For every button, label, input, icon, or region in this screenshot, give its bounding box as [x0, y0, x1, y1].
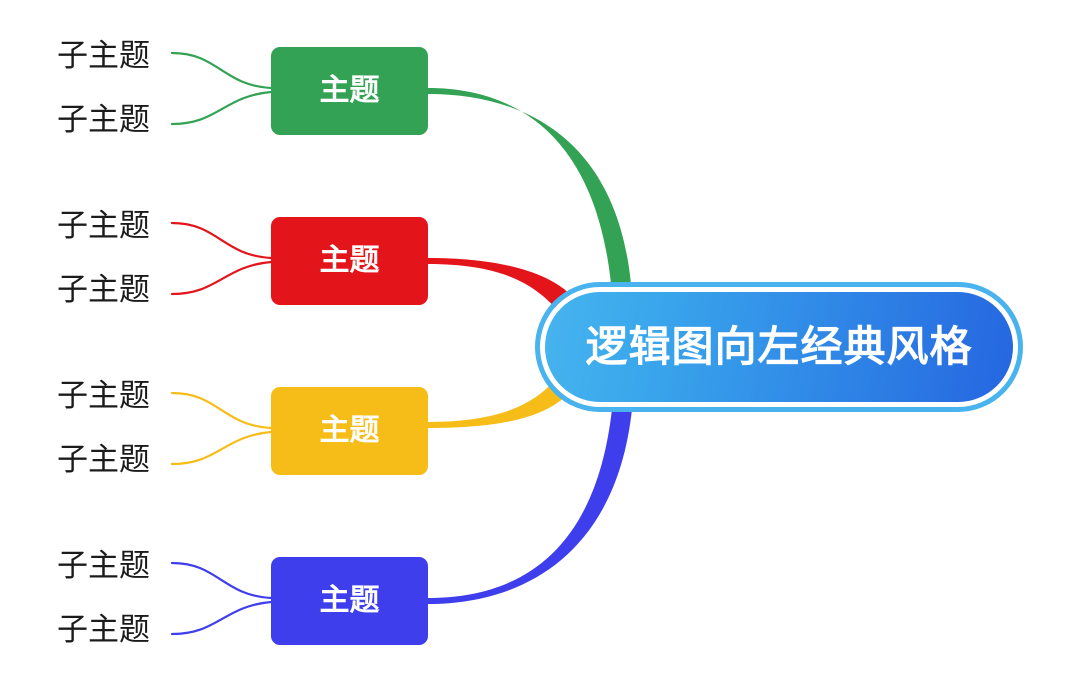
- mindmap-canvas: 主题 子主题 子主题 主题 子主题 子主题 主题 子主题 子主题 主题 子主题 …: [0, 0, 1075, 692]
- sub-connector-green-1: [172, 53, 271, 88]
- topic-label: 主题: [320, 586, 380, 616]
- topic-label: 主题: [320, 76, 380, 106]
- subtopic-yellow-1[interactable]: 子主题: [57, 380, 172, 411]
- sub-connector-blue-1: [172, 563, 271, 598]
- subtopic-green-2[interactable]: 子主题: [57, 104, 172, 135]
- main-connector-yellow: [428, 379, 570, 428]
- topic-label: 主题: [320, 416, 380, 446]
- topic-label: 主题: [320, 246, 380, 276]
- topic-box-blue[interactable]: 主题: [271, 557, 428, 645]
- topic-box-red[interactable]: 主题: [271, 217, 428, 305]
- topic-box-green[interactable]: 主题: [271, 47, 428, 135]
- subtopic-blue-2[interactable]: 子主题: [57, 614, 172, 645]
- sub-connector-yellow-1: [172, 393, 271, 428]
- main-connector-green: [428, 88, 631, 284]
- root-node[interactable]: 逻辑图向左经典风格: [540, 287, 1018, 407]
- sub-connector-yellow-2: [172, 432, 271, 464]
- sub-connector-red-1: [172, 223, 271, 258]
- subtopic-blue-1[interactable]: 子主题: [57, 550, 172, 581]
- sub-connector-red-2: [172, 262, 271, 294]
- subtopic-green-1[interactable]: 子主题: [57, 40, 172, 71]
- main-connector-blue: [428, 409, 632, 604]
- subtopic-red-1[interactable]: 子主题: [57, 210, 172, 241]
- topic-box-yellow[interactable]: 主题: [271, 387, 428, 475]
- subtopic-yellow-2[interactable]: 子主题: [57, 444, 172, 475]
- root-node-label: 逻辑图向左经典风格: [585, 326, 972, 368]
- sub-connector-blue-2: [172, 602, 271, 634]
- sub-connector-green-2: [172, 92, 271, 124]
- main-connector-red: [428, 258, 572, 311]
- subtopic-red-2[interactable]: 子主题: [57, 274, 172, 305]
